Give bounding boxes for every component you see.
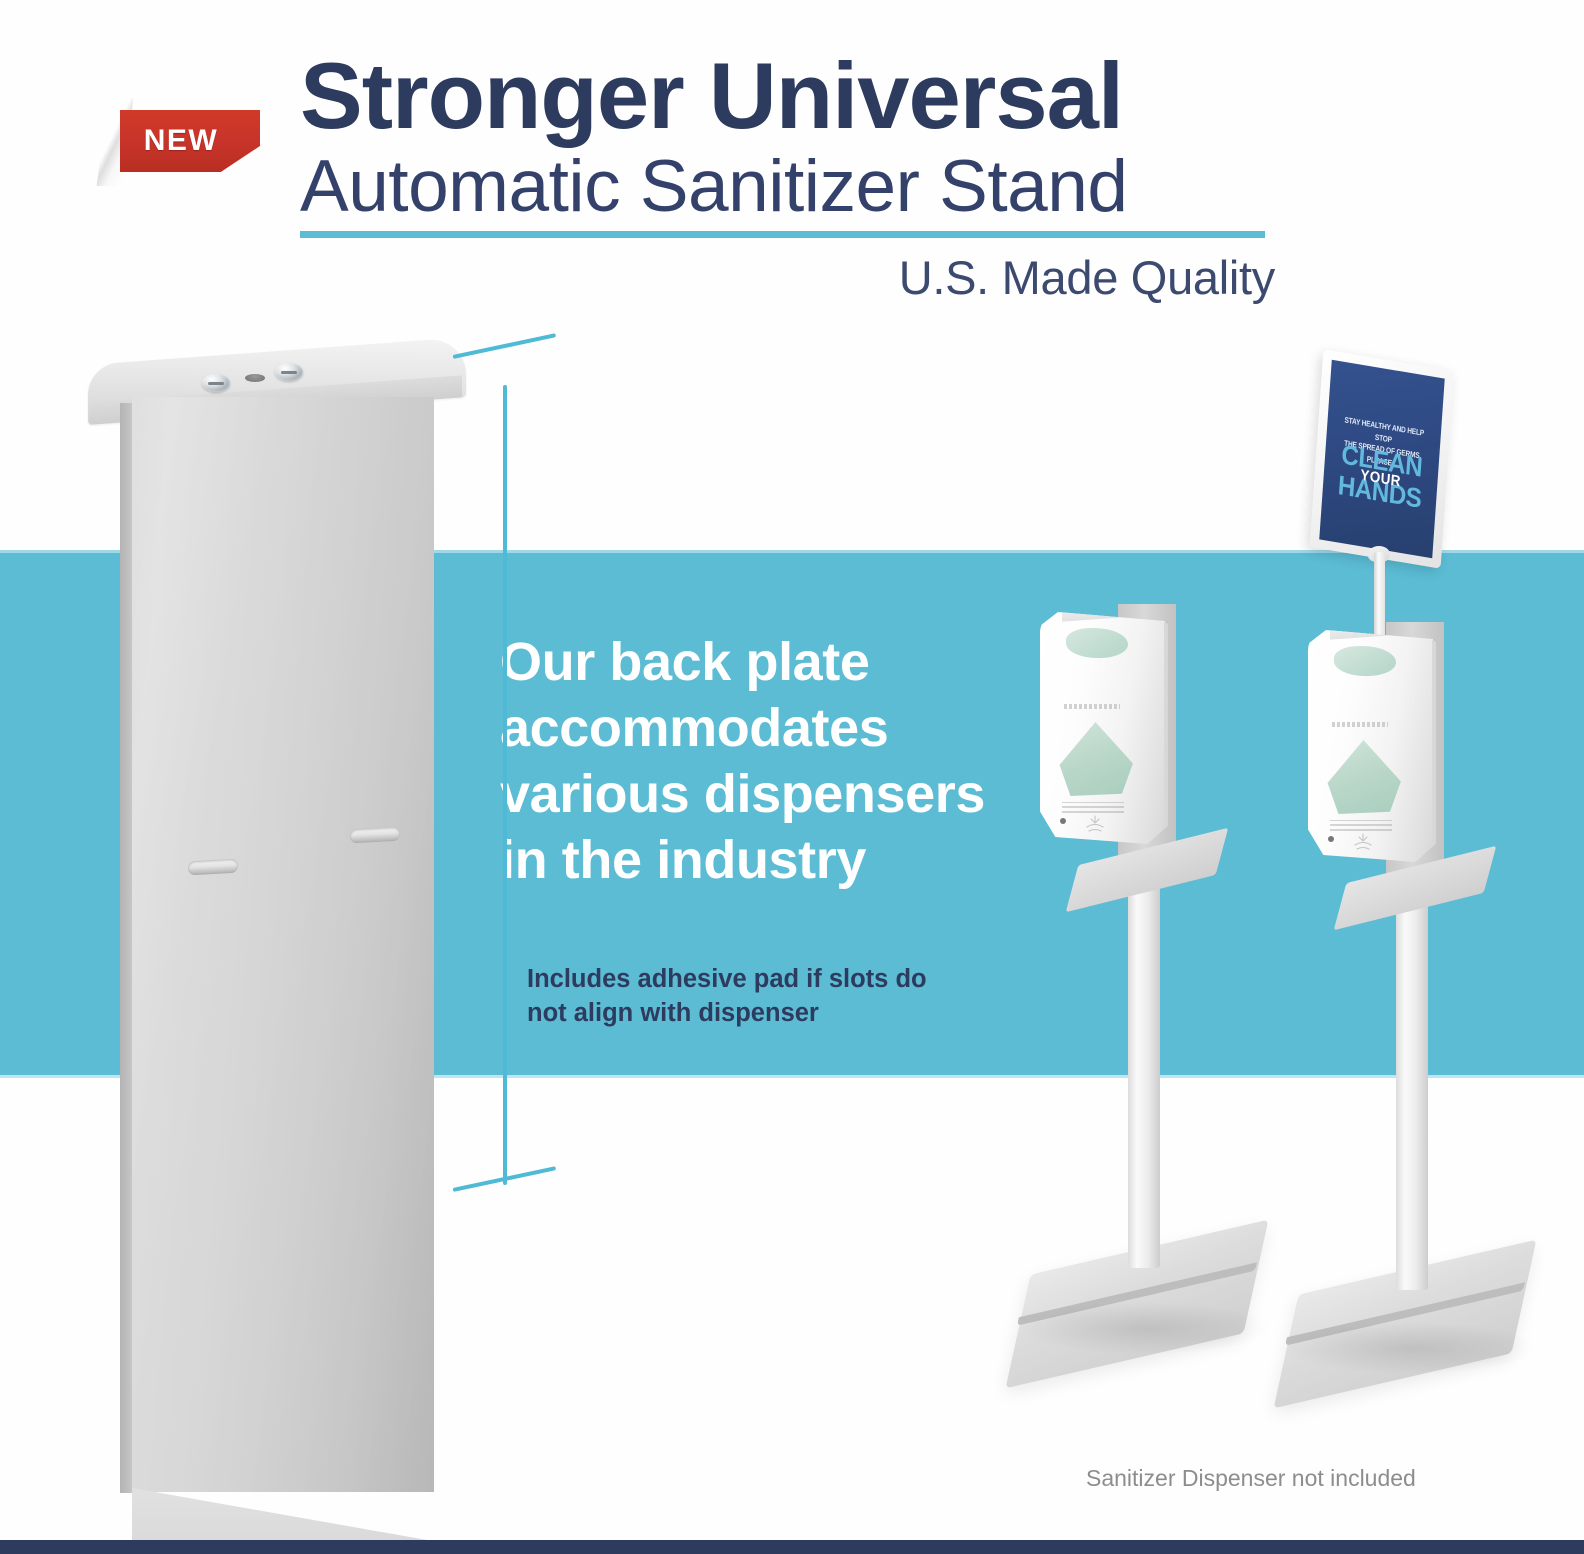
sanitizer-stand-with-sign: STAY HEALTHY AND HELP STOP THE SPREAD OF… <box>1262 360 1552 1390</box>
dimension-line-vertical <box>503 385 507 1185</box>
dispenser-label-text <box>1330 820 1392 831</box>
hand-dispense-icon <box>1350 833 1376 853</box>
sign-frame: STAY HEALTHY AND HELP STOP THE SPREAD OF… <box>1310 349 1455 568</box>
adhesive-pad-note: Includes adhesive pad if slots do not al… <box>527 962 957 1030</box>
new-badge-label: NEW <box>120 110 242 172</box>
disclaimer-footnote: Sanitizer Dispenser not included <box>1086 1465 1416 1492</box>
backplate-hero-illustration <box>60 345 620 1554</box>
dispenser-brand-text <box>1332 722 1388 727</box>
dispenser-top-window <box>1334 646 1396 676</box>
page-subtitle: Automatic Sanitizer Stand <box>300 146 1275 228</box>
hand-dispense-icon <box>1082 815 1108 835</box>
footer-bar <box>0 1540 1584 1554</box>
sign-stem <box>1374 552 1385 648</box>
ground-shadow <box>1020 1302 1270 1354</box>
sanitizer-dispenser <box>1040 612 1168 844</box>
tagline: U.S. Made Quality <box>300 250 1275 305</box>
dispenser-refill-window <box>1058 722 1136 796</box>
header: NEW Stronger Universal Automatic Sanitiz… <box>0 0 1584 340</box>
pilot-hole-icon <box>245 374 265 382</box>
sanitizer-stand-without-sign <box>1010 590 1280 1370</box>
dispenser-label-text <box>1062 802 1124 813</box>
mounting-slot-icon <box>350 827 400 844</box>
dispenser-refill-window <box>1326 740 1404 814</box>
dispenser-brand-text <box>1064 704 1120 709</box>
title-underline-rule <box>300 231 1265 238</box>
ground-shadow <box>1286 1322 1536 1374</box>
new-badge: NEW <box>102 110 260 172</box>
mounting-slot-icon <box>188 859 238 876</box>
sanitizer-dispenser <box>1308 630 1436 862</box>
backplate-sheen <box>132 397 434 1492</box>
page-title: Stronger Universal <box>300 48 1275 144</box>
product-marketing-banner: NEW Stronger Universal Automatic Sanitiz… <box>0 0 1584 1554</box>
bolt-icon <box>275 363 303 381</box>
sign-poster: STAY HEALTHY AND HELP STOP THE SPREAD OF… <box>1319 360 1445 558</box>
dispenser-top-window <box>1066 628 1128 658</box>
headline-text: Our back plate accommodates various disp… <box>500 630 1040 894</box>
dispenser-led-icon <box>1060 818 1066 824</box>
title-block: Stronger Universal Automatic Sanitizer S… <box>300 48 1275 305</box>
dispenser-led-icon <box>1328 836 1334 842</box>
stand-pole <box>1396 898 1428 1290</box>
bolt-icon <box>202 374 230 392</box>
stand-pole <box>1128 878 1160 1268</box>
